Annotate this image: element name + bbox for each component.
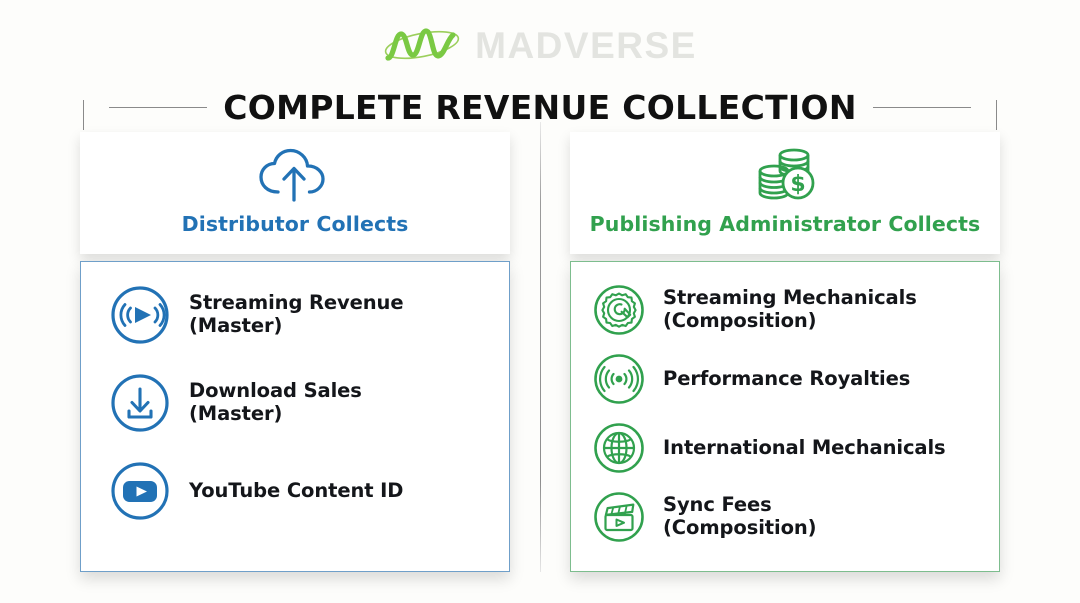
column-publisher: $ Publishing Administrator Collects Stre…: [570, 132, 1000, 572]
list-item-line1: Streaming Revenue: [189, 291, 403, 314]
list-item-line2: (Composition): [663, 517, 816, 540]
list-item[interactable]: YouTube Content ID: [109, 460, 509, 522]
broadcast-signal-icon: [593, 353, 645, 405]
list-item-label: Download Sales (Master): [189, 380, 362, 425]
list-item-line1: YouTube Content ID: [189, 479, 403, 502]
brand-lockup: MADVERSE: [0, 22, 1080, 68]
svg-text:$: $: [790, 172, 805, 197]
cloud-upload-icon: [256, 144, 334, 206]
bracket-corner-right: [996, 100, 997, 130]
gear-wrench-icon: [593, 284, 645, 336]
list-item-line2: (Master): [189, 403, 362, 426]
download-arrow-tray-icon: [109, 372, 171, 434]
column-distributor: Distributor Collects Streaming Revenue (…: [80, 132, 510, 572]
coin-stack-dollar-icon: $: [747, 144, 823, 206]
distributor-card-body: Streaming Revenue (Master) Download Sale…: [80, 261, 510, 572]
distributor-card-header: Distributor Collects: [80, 132, 510, 254]
publisher-title: Publishing Administrator Collects: [590, 212, 981, 236]
clapperboard-play-icon: [593, 491, 645, 543]
brand-wordmark: MADVERSE: [475, 27, 697, 64]
list-item-line1: Download Sales: [189, 379, 362, 402]
list-item[interactable]: Streaming Mechanicals (Composition): [593, 284, 999, 336]
publisher-card-header: $ Publishing Administrator Collects: [570, 132, 1000, 254]
headline-rule-left: [109, 107, 207, 108]
column-divider: [540, 122, 541, 572]
streaming-signal-play-icon: [109, 284, 171, 346]
list-item[interactable]: Download Sales (Master): [109, 372, 509, 434]
bracket-corner-left: [83, 100, 84, 130]
list-item-label: International Mechanicals: [663, 437, 946, 460]
youtube-play-icon: [109, 460, 171, 522]
page-title: COMPLETE REVENUE COLLECTION: [207, 88, 873, 127]
madverse-waveform-logo-icon: [383, 22, 461, 68]
list-item[interactable]: Performance Royalties: [593, 353, 999, 405]
publisher-card-body: Streaming Mechanicals (Composition) Per: [570, 261, 1000, 572]
list-item-line1: Sync Fees: [663, 493, 772, 516]
list-item-label: Streaming Mechanicals (Composition): [663, 287, 917, 332]
list-item[interactable]: International Mechanicals: [593, 422, 999, 474]
distributor-title: Distributor Collects: [182, 212, 409, 236]
list-item-label: Sync Fees (Composition): [663, 494, 816, 539]
list-item-label: Performance Royalties: [663, 368, 910, 391]
headline-rule-right: [873, 107, 971, 108]
list-item-line1: Performance Royalties: [663, 367, 910, 390]
list-item[interactable]: Streaming Revenue (Master): [109, 284, 509, 346]
list-item-label: YouTube Content ID: [189, 480, 403, 503]
list-item[interactable]: Sync Fees (Composition): [593, 491, 999, 543]
list-item-line2: (Master): [189, 315, 403, 338]
list-item-line1: International Mechanicals: [663, 436, 946, 459]
globe-icon: [593, 422, 645, 474]
list-item-line1: Streaming Mechanicals: [663, 286, 917, 309]
list-item-label: Streaming Revenue (Master): [189, 292, 403, 337]
list-item-line2: (Composition): [663, 310, 917, 333]
